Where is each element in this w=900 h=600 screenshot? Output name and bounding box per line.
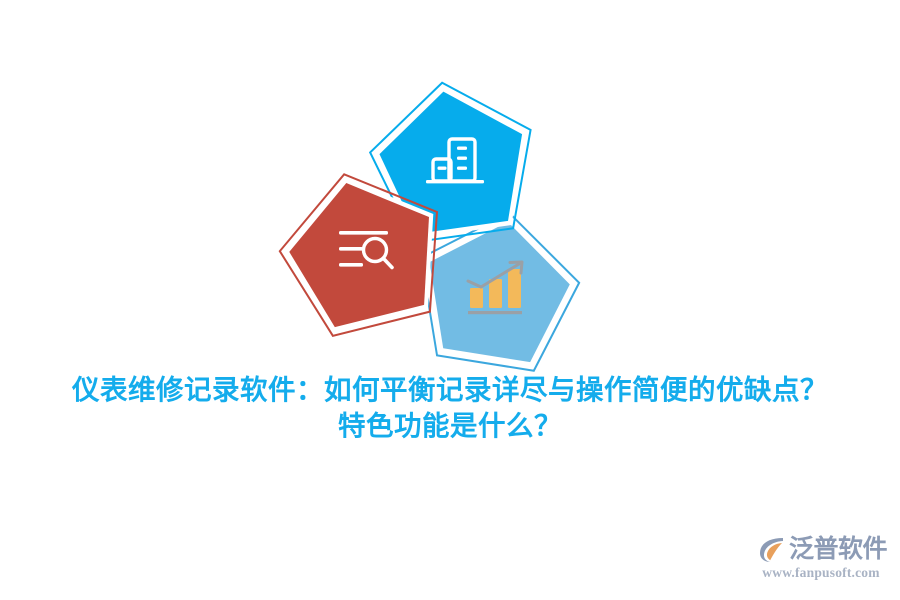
page-title: 仪表维修记录软件：如何平衡记录详尽与操作简便的优缺点？ 特色功能是什么？ xyxy=(0,372,900,445)
building-window-3 xyxy=(457,167,467,170)
brand-name: 泛普软件 xyxy=(789,534,887,564)
building-window-1 xyxy=(457,147,467,150)
search-list-line-1 xyxy=(339,231,388,235)
brand-row: 泛普软件 xyxy=(756,532,886,566)
brand-url: www.fanpusoft.com xyxy=(756,565,886,581)
chart-bar-2 xyxy=(489,279,502,308)
chart-bar-1 xyxy=(470,288,483,308)
hero-graphic xyxy=(0,0,900,380)
page-title-line-1: 仪表维修记录软件：如何平衡记录详尽与操作简便的优缺点？ xyxy=(0,372,900,408)
building-window-2 xyxy=(457,157,467,160)
building-window-4 xyxy=(438,167,447,170)
fanpu-swoosh-logo-icon xyxy=(756,534,786,564)
page-title-line-2: 特色功能是什么？ xyxy=(0,408,900,444)
search-list-line-2 xyxy=(339,247,363,251)
chart-baseline xyxy=(468,311,522,314)
pentagon-cluster-illustration xyxy=(0,0,900,380)
search-list-line-3 xyxy=(339,263,363,267)
brand-watermark: 泛普软件 www.fanpusoft.com xyxy=(756,532,886,588)
chart-bar-3 xyxy=(508,269,521,308)
